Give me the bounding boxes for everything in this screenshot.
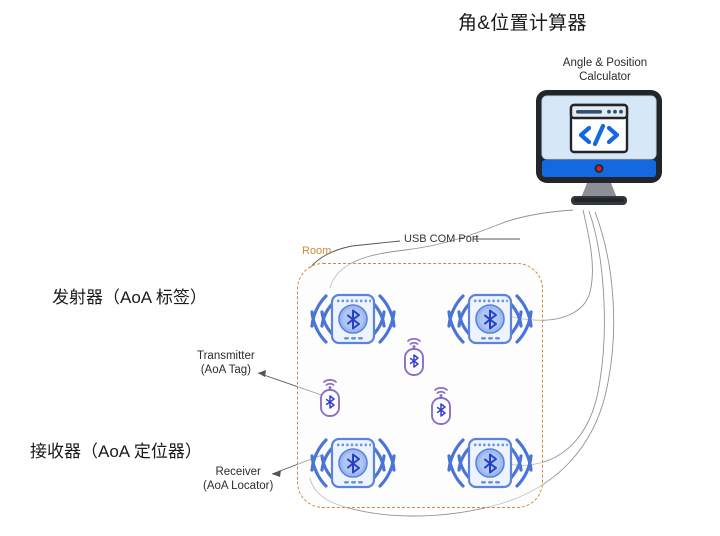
calculator-caption-line1: Angle & Position xyxy=(540,56,670,70)
receiver-label-en-line2: (AoA Locator) xyxy=(203,479,273,493)
leader-arrow-transmitter xyxy=(258,370,266,377)
diagram-canvas: 角&位置计算器 Angle & Position Calculator xyxy=(0,0,720,536)
angle-position-calculator xyxy=(533,88,665,210)
calculator-caption: Angle & Position Calculator xyxy=(540,56,670,84)
transmitter-label-en-line2: (AoA Tag) xyxy=(197,363,255,377)
receiver-label-cn: 接收器（AoA 定位器） xyxy=(30,437,202,462)
receiver-label-en-line1: Receiver xyxy=(203,465,273,479)
transmitter-label-en: Transmitter (AoA Tag) xyxy=(197,349,255,377)
usb-com-port-label: USB COM Port xyxy=(404,233,479,245)
transmitter-label-cn: 发射器（AoA 标签） xyxy=(52,283,207,308)
page-title: 角&位置计算器 xyxy=(458,8,587,35)
room-label: Room xyxy=(302,245,331,257)
calculator-caption-line2: Calculator xyxy=(540,70,670,84)
monitor-icon xyxy=(533,88,665,210)
room-boundary xyxy=(297,263,543,508)
receiver-label-en: Receiver (AoA Locator) xyxy=(203,465,273,493)
leader-arrow-receiver xyxy=(272,470,281,477)
transmitter-label-en-line1: Transmitter xyxy=(197,349,255,363)
